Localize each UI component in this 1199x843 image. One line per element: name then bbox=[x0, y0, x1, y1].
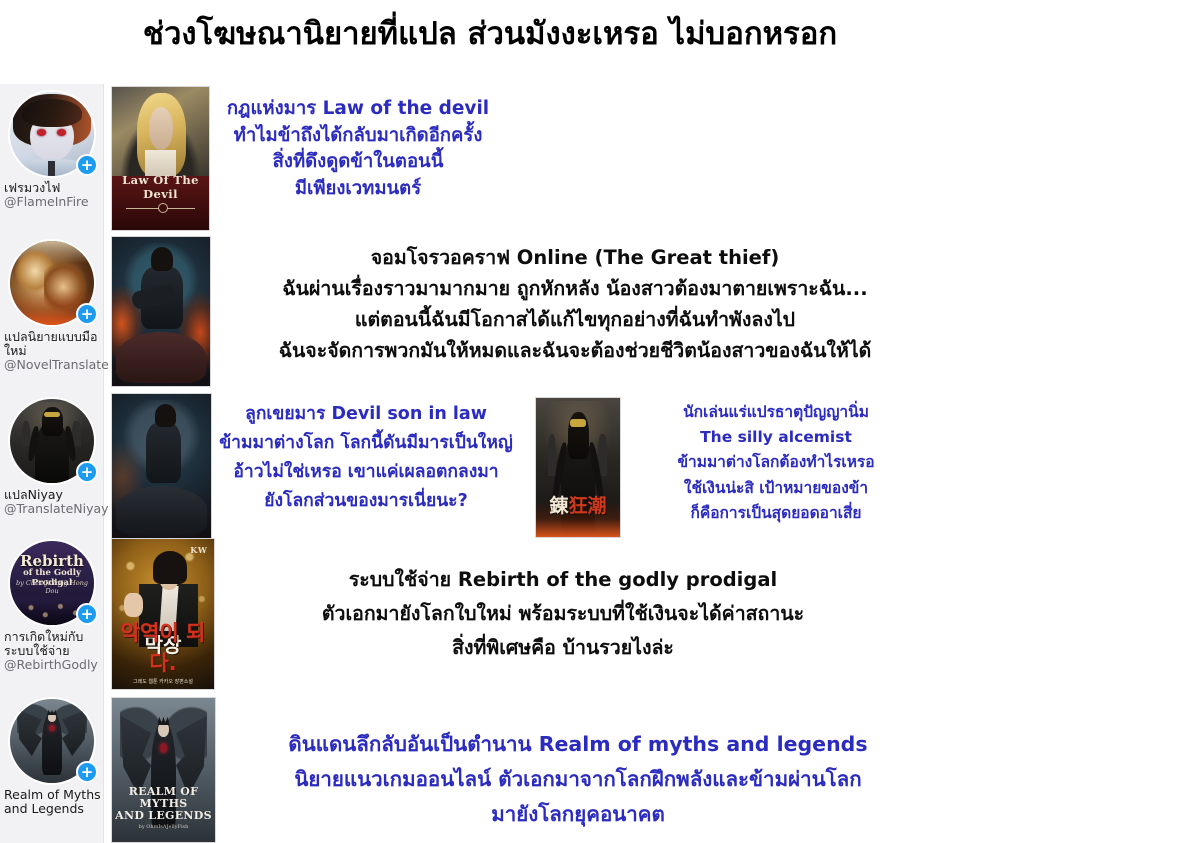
post-line: ดินแดนลึกลับอันเป็นตำนาน Realm of myths … bbox=[238, 727, 918, 762]
cover-credit: by OhmIsAJellyFish bbox=[112, 824, 215, 830]
cover-art: Law Of The Devil bbox=[112, 87, 209, 230]
thumbnail-law-of-the-devil[interactable]: Law Of The Devil bbox=[111, 86, 210, 231]
post-line: มายังโลกยุคอนาคต bbox=[238, 797, 918, 832]
avatar-wrap[interactable]: + bbox=[8, 239, 96, 327]
cover-title-line2: AND LEGENDS bbox=[115, 809, 212, 822]
post-line: สิ่งที่ดึงดูดข้าในตอนนี้ bbox=[218, 149, 498, 176]
sidebar-item-name: แปลนิยายแบบมือใหม่ bbox=[0, 327, 104, 358]
post-line: ฉันจะจัดการพวกมันให้หมดและฉันจะต้องช่วยช… bbox=[225, 335, 925, 366]
cover-title-line2: 악역이 되다. bbox=[112, 617, 214, 677]
sidebar-item-handle: @TranslateNiyay bbox=[0, 502, 104, 516]
sidebar-item-name: Realm of Myths and Legends bbox=[0, 785, 104, 816]
post-line: ยังโลกส่วนของมารเนี่ยนะ? bbox=[207, 487, 525, 516]
post-great-thief-online: จอมโจรวอคราฟ Online (The Great thief) ฉั… bbox=[225, 242, 925, 366]
post-line: ตัวเอกมายังโลกใบใหม่ พร้อมระบบที่ใช้เงิน… bbox=[238, 597, 888, 631]
post-line: ใช้เงินน่ะสิ เป้าหมายของข้า bbox=[636, 476, 916, 501]
post-realm-of-myths: ดินแดนลึกลับอันเป็นตำนาน Realm of myths … bbox=[238, 727, 918, 832]
post-line: The silly alcemist bbox=[636, 425, 916, 450]
thumbnail-korean-villain-webtoon[interactable]: KW 막장 악역이 되다. 그레도 웹툰 카카오 장편소설 bbox=[111, 538, 215, 690]
cover-author: by Chen Ji Tang Hong Dou bbox=[10, 579, 94, 595]
cover-art: REALM OF MYTHS AND LEGENDS by OhmIsAJell… bbox=[112, 698, 215, 842]
sidebar-item-rebirthgodly[interactable]: Rebirth of the Godly Prodigal by Chen Ji… bbox=[0, 539, 104, 672]
sidebar-item-noveltranslate[interactable]: + แปลนิยายแบบมือใหม่ @NovelTranslate bbox=[0, 239, 104, 372]
cover-title: Law Of The Devil bbox=[112, 173, 209, 201]
sidebar-item-flameinfire[interactable]: + เฟรมวงไฟ @FlameInFire bbox=[0, 90, 104, 209]
add-icon[interactable]: + bbox=[76, 461, 98, 483]
cover-title: REALM OF MYTHS AND LEGENDS bbox=[112, 786, 215, 822]
cover-title-char-1: 錬 bbox=[549, 495, 568, 517]
post-line: ข้ามมาต่างโลก โลกนี้ดันมีมารเป็นใหญ่ bbox=[207, 429, 525, 458]
sidebar-item-handle: @NovelTranslate bbox=[0, 358, 104, 372]
post-line: ลูกเขยมาร Devil son in law bbox=[207, 400, 525, 429]
post-law-of-the-devil: กฎแห่งมาร Law of the devil ทำไมข้าถึงได้… bbox=[218, 96, 498, 202]
post-line: ระบบใช้จ่าย Rebirth of the godly prodiga… bbox=[238, 563, 888, 597]
post-line: ข้ามมาต่างโลกต้องทำไรเหรอ bbox=[636, 450, 916, 475]
add-icon[interactable]: + bbox=[76, 761, 98, 783]
post-line: ทำไมข้าถึงได้กลับมาเกิดอีกครั้ง bbox=[218, 123, 498, 150]
post-rebirth-godly-prodigal: ระบบใช้จ่าย Rebirth of the godly prodiga… bbox=[238, 563, 888, 665]
channel-sidebar: + เฟรมวงไฟ @FlameInFire + แปลนิยายแบบมือ… bbox=[0, 84, 104, 843]
post-line: ฉันผ่านเรื่องราวมามากมาย ถูกหักหลัง น้อง… bbox=[225, 273, 925, 304]
avatar-wrap[interactable]: Rebirth of the Godly Prodigal by Chen Ji… bbox=[8, 539, 96, 627]
thumbnail-realm-of-myths[interactable]: REALM OF MYTHS AND LEGENDS by OhmIsAJell… bbox=[111, 697, 216, 843]
cover-art bbox=[112, 394, 211, 538]
add-icon[interactable]: + bbox=[76, 303, 98, 325]
post-line: กฎแห่งมาร Law of the devil bbox=[218, 96, 498, 123]
avatar-wrap[interactable]: + bbox=[8, 397, 96, 485]
sidebar-item-name: การเกิดใหม่กับระบบใช้จ่าย bbox=[0, 627, 104, 658]
cover-art: KW 막장 악역이 되다. 그레도 웹툰 카카오 장편소설 bbox=[112, 539, 214, 689]
post-line: สิ่งที่พิเศษคือ บ้านรวยไงล่ะ bbox=[238, 631, 888, 665]
post-line: มีเพียงเวทมนตร์ bbox=[218, 176, 498, 203]
post-line: อ้าวไม่ใช่เหรอ เขาแค่เผลอตกลงมา bbox=[207, 458, 525, 487]
thumbnail-devil-son-in-law[interactable] bbox=[111, 393, 212, 539]
sidebar-item-translateniyay[interactable]: + แปลNiyay @TranslateNiyay bbox=[0, 397, 104, 516]
sidebar-item-name: เฟรมวงไฟ bbox=[0, 178, 104, 195]
publisher-logo: KW bbox=[190, 545, 208, 555]
post-line: นิยายแนวเกมออนไลน์ ตัวเอกมาจากโลกฝึกพลัง… bbox=[238, 762, 918, 797]
add-icon[interactable]: + bbox=[76, 603, 98, 625]
sidebar-item-realm-of-myths[interactable]: + Realm of Myths and Legends bbox=[0, 697, 104, 816]
post-line: แต่ตอนนี้ฉันมีโอกาสได้แก้ไขทุกอย่างที่ฉั… bbox=[225, 304, 925, 335]
add-icon[interactable]: + bbox=[76, 154, 98, 176]
avatar-wrap[interactable]: + bbox=[8, 697, 96, 785]
cover-title-line1: REALM OF MYTHS bbox=[129, 785, 199, 810]
cover-title-cjk: 錬狂潮 bbox=[539, 491, 616, 518]
avatar-wrap[interactable]: + bbox=[8, 90, 96, 178]
sidebar-item-handle: @RebirthGodly bbox=[0, 658, 104, 672]
cover-art bbox=[112, 237, 210, 386]
post-silly-alchemist: นักเล่นแร่แปรธาตุปัญญานิ่ม The silly alc… bbox=[636, 400, 916, 526]
page-title: ช่วงโฆษณานิยายที่แปล ส่วนมังงะเหรอ ไม่บอ… bbox=[0, 8, 980, 58]
post-line: จอมโจรวอคราฟ Online (The Great thief) bbox=[225, 242, 925, 273]
sidebar-item-handle: @FlameInFire bbox=[0, 195, 104, 209]
cover-title-char-3: 潮 bbox=[588, 495, 607, 517]
post-line: นักเล่นแร่แปรธาตุปัญญานิ่ม bbox=[636, 400, 916, 425]
cover-subtitle: 그레도 웹툰 카카오 장편소설 bbox=[112, 678, 214, 685]
cover-art: 錬狂潮 bbox=[536, 398, 620, 537]
thumbnail-great-thief[interactable] bbox=[111, 236, 211, 387]
thumbnail-alchemy-craze[interactable]: 錬狂潮 bbox=[535, 397, 621, 538]
sidebar-item-name: แปลNiyay bbox=[0, 485, 104, 502]
post-line: ก็คือการเป็นสุดยอดอาเสี่ย bbox=[636, 501, 916, 526]
cover-ring-ornament bbox=[158, 203, 168, 213]
post-devil-son-in-law: ลูกเขยมาร Devil son in law ข้ามมาต่างโลก… bbox=[207, 400, 525, 516]
cover-title-char-2: 狂 bbox=[568, 495, 587, 517]
